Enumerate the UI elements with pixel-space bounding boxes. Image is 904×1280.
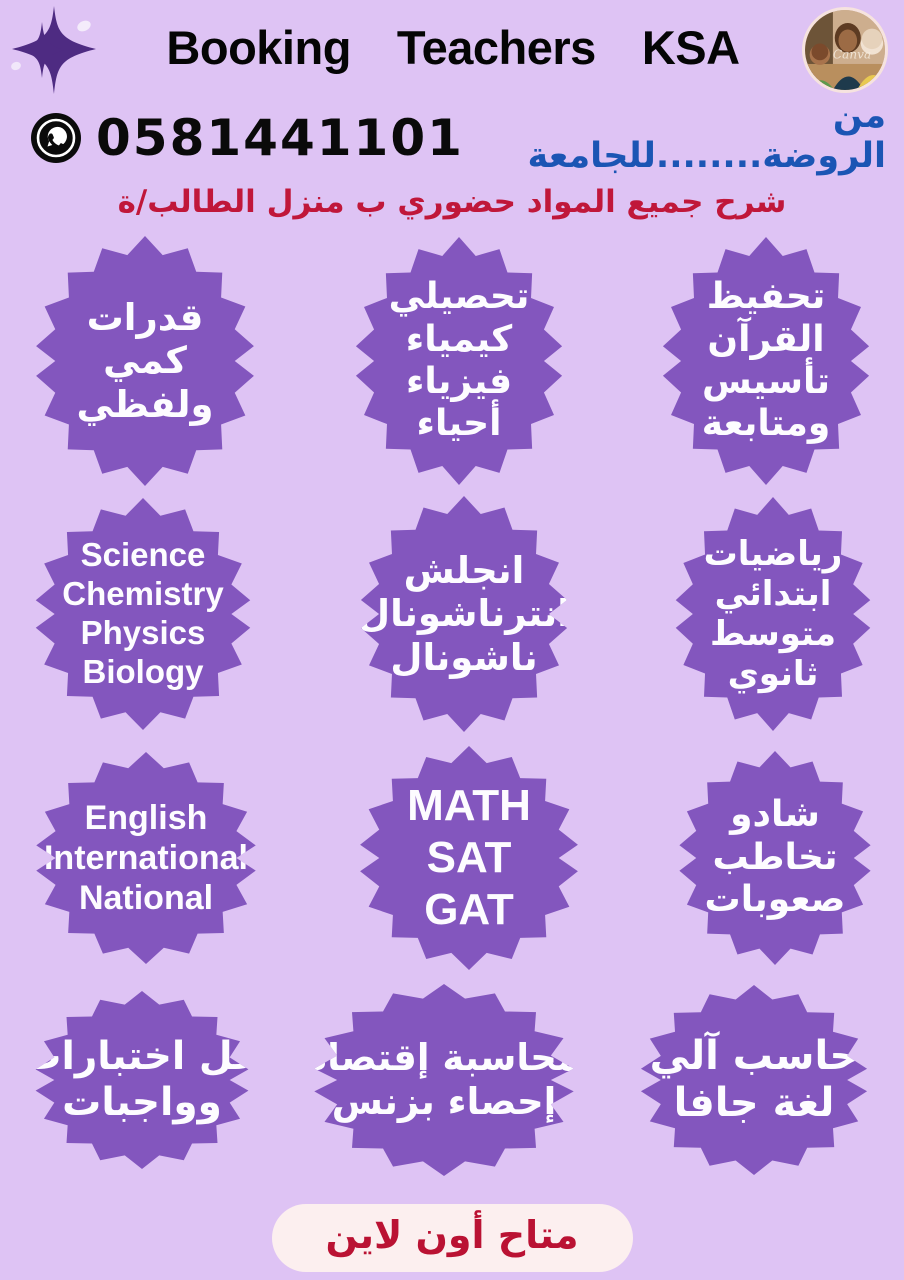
badge-math-sat-gat[interactable]: MATH SAT GAT (338, 746, 600, 970)
tagline: من الروضة........للجامعة (464, 96, 886, 176)
badge-shadow-speech[interactable]: شادو تخاطب صعوبات (660, 751, 890, 965)
badge-line: Chemistry (16, 575, 270, 614)
badge-tahsili-text: تحصيلي كيمياء فيزياء أحياء (335, 276, 583, 446)
badge-line: MATH (340, 780, 598, 832)
badge-line: ولفظي (16, 383, 274, 427)
badge-line: انجلش (342, 549, 586, 593)
badge-qudrat-text: قدرات كمي ولفظي (14, 296, 276, 427)
badge-line: ابتدائي (658, 574, 888, 614)
badge-line: صعوبات (662, 879, 888, 921)
badge-line: القرآن (644, 319, 888, 361)
badge-computer-java-text: حاسب آلي لغة جافا (618, 1033, 890, 1127)
badge-english-ar[interactable]: انجلش انترناشونال ناشونال (340, 496, 588, 732)
badge-line: ثانوي (658, 654, 888, 694)
badge-line: Biology (16, 653, 270, 692)
badge-line: SAT (340, 832, 598, 884)
badge-row-3: English International National MATH SAT … (14, 746, 890, 970)
badge-line: ناشونال (342, 636, 586, 680)
badge-line: انترناشونال (342, 592, 586, 636)
headline: شرح جميع المواد حضوري ب منزل الطالب/ة (0, 176, 904, 230)
badge-science-en-text: Science Chemistry Physics Biology (14, 536, 272, 692)
badge-quran[interactable]: تحفيظ القرآن تأسيس ومتابعة (642, 237, 890, 485)
badge-line: National (16, 878, 276, 918)
badge-line: Physics (16, 614, 270, 653)
badge-english-en[interactable]: English International National (14, 752, 278, 964)
badge-tahsili[interactable]: تحصيلي كيمياء فيزياء أحياء (335, 237, 583, 485)
badge-line: GAT (340, 884, 598, 936)
badge-computer-java[interactable]: حاسب آلي لغة جافا (618, 985, 890, 1175)
brand-word-teachers: Teachers (397, 20, 596, 75)
badge-math-ar[interactable]: رياضيات ابتدائي متوسط ثانوي (656, 497, 890, 731)
footer: متاح أون لاين (0, 1204, 904, 1272)
badge-line: تحفيظ (644, 276, 888, 318)
contact-row: 0581441101 من الروضة........للجامعة (0, 100, 904, 176)
badge-line: حاسب آلي (620, 1033, 888, 1080)
badge-line: تأسيس (644, 361, 888, 403)
badge-qudrat[interactable]: قدرات كمي ولفظي (14, 236, 276, 486)
badge-math-ar-text: رياضيات ابتدائي متوسط ثانوي (656, 534, 890, 694)
badge-line: فيزياء (337, 361, 581, 403)
badge-row-4: حل اختبارات وواجبات محاسبة إقتصاد إحصاء … (14, 984, 890, 1176)
badge-line: متوسط (658, 614, 888, 654)
badge-line: أحياء (337, 403, 581, 445)
badge-line: كمي (16, 339, 274, 383)
badge-line: حل اختبارات (16, 1034, 268, 1080)
badge-line: English (16, 798, 276, 838)
badge-shadow-speech-text: شادو تخاطب صعوبات (660, 794, 890, 921)
badge-line: محاسبة إقتصاد (290, 1036, 598, 1080)
badge-line: تحصيلي (337, 276, 581, 318)
badge-line: كيمياء (337, 319, 581, 361)
badge-line: رياضيات (658, 534, 888, 574)
brand-title: Booking Teachers KSA (104, 20, 802, 75)
badge-row-1: قدرات كمي ولفظي تحصيلي كيمياء فيزياء أحي… (14, 236, 890, 486)
avatar: Canva (802, 7, 888, 93)
badge-english-en-text: English International National (14, 798, 278, 918)
badge-line: ومتابعة (644, 403, 888, 445)
badge-english-ar-text: انجلش انترناشونال ناشونال (340, 549, 588, 680)
badge-line: شادو (662, 794, 888, 836)
poster-root: Booking Teachers KSA (0, 0, 904, 1280)
badge-line: لغة جافا (620, 1080, 888, 1127)
badge-quran-text: تحفيظ القرآن تأسيس ومتابعة (642, 276, 890, 446)
online-badge[interactable]: متاح أون لاين (272, 1204, 633, 1272)
badge-line: إحصاء بزنس (290, 1080, 598, 1124)
badge-accounting[interactable]: محاسبة إقتصاد إحصاء بزنس (288, 984, 600, 1176)
badge-accounting-text: محاسبة إقتصاد إحصاء بزنس (288, 1036, 600, 1123)
badge-row-2: Science Chemistry Physics Biology انجلش … (14, 496, 890, 732)
svg-text:Canva: Canva (833, 47, 871, 61)
badge-grid: قدرات كمي ولفظي تحصيلي كيمياء فيزياء أحي… (0, 230, 904, 1176)
badge-math-sat-gat-text: MATH SAT GAT (338, 780, 600, 936)
badge-exams-hw-text: حل اختبارات وواجبات (14, 1034, 270, 1126)
badge-line: تخاطب (662, 837, 888, 879)
badge-line: وواجبات (16, 1080, 268, 1126)
sparkle-icon (8, 2, 104, 98)
badge-line: قدرات (16, 296, 274, 340)
badge-science-en[interactable]: Science Chemistry Physics Biology (14, 498, 272, 730)
brand-word-booking: Booking (166, 20, 350, 75)
badge-line: International (16, 838, 276, 878)
phone-number[interactable]: 0581441101 (96, 109, 464, 167)
header: Booking Teachers KSA (0, 0, 904, 100)
badge-exams-hw[interactable]: حل اختبارات وواجبات (14, 991, 270, 1169)
brand-word-ksa: KSA (642, 20, 740, 75)
badge-line: Science (16, 536, 270, 575)
whatsapp-icon[interactable] (30, 112, 82, 164)
